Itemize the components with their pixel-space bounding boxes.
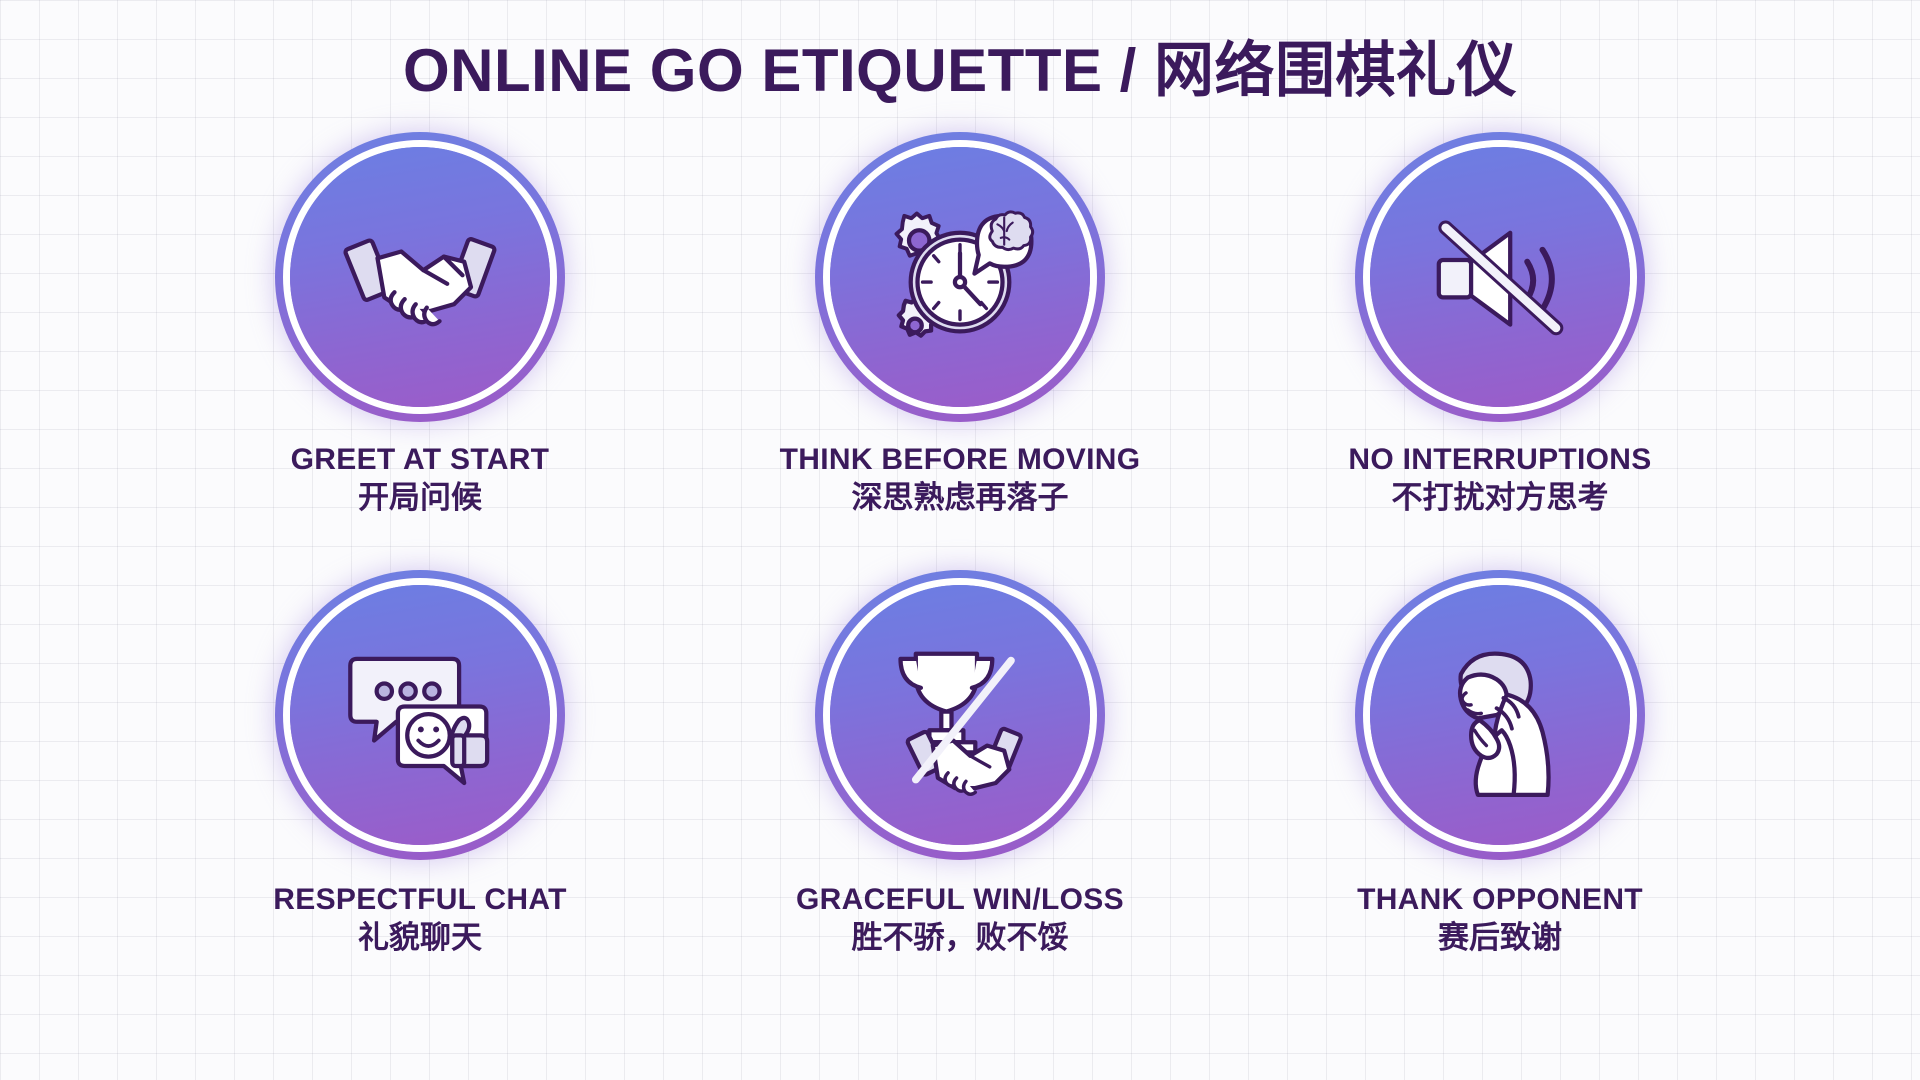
circle-inner (1370, 147, 1630, 407)
item-labels: GRACEFUL WIN/LOSS 胜不骄，败不馁 (796, 882, 1124, 957)
circle-inner (830, 147, 1090, 407)
trophy-handshake-icon (875, 630, 1045, 800)
etiquette-item-graceful-win-loss[interactable]: GRACEFUL WIN/LOSS 胜不骄，败不馁 (796, 570, 1124, 1008)
etiquette-item-no-interruptions[interactable]: NO INTERRUPTIONS 不打扰对方思考 (1348, 132, 1651, 570)
circle-inner (830, 585, 1090, 845)
handshake-icon (335, 192, 505, 362)
label-zh: 胜不骄，败不馁 (796, 919, 1124, 957)
item-labels: NO INTERRUPTIONS 不打扰对方思考 (1348, 442, 1651, 517)
label-en: GREET AT START (291, 442, 550, 477)
item-labels: RESPECTFUL CHAT 礼貌聊天 (273, 882, 566, 957)
circle-inner (290, 147, 550, 407)
label-en: THANK OPPONENT (1357, 882, 1643, 917)
item-labels: THANK OPPONENT 赛后致谢 (1357, 882, 1643, 957)
icon-circle (1355, 570, 1645, 860)
label-en: GRACEFUL WIN/LOSS (796, 882, 1124, 917)
icon-circle (815, 132, 1105, 422)
muted-speaker-icon (1415, 192, 1585, 362)
icon-circle (815, 570, 1105, 860)
icon-circle (1355, 132, 1645, 422)
chat-bubbles-thumbsup-icon (335, 630, 505, 800)
bowing-person-icon (1415, 630, 1585, 800)
clock-gears-brain-icon (875, 192, 1045, 362)
label-zh: 不打扰对方思考 (1348, 479, 1651, 517)
label-en: NO INTERRUPTIONS (1348, 442, 1651, 477)
label-zh: 礼貌聊天 (273, 919, 566, 957)
circle-inner (290, 585, 550, 845)
etiquette-grid: GREET AT START 开局问候 (150, 132, 1770, 1008)
label-en: RESPECTFUL CHAT (273, 882, 566, 917)
page-title: ONLINE GO ETIQUETTE / 网络围棋礼仪 (403, 38, 1517, 104)
icon-circle (275, 132, 565, 422)
etiquette-item-thank-opponent[interactable]: THANK OPPONENT 赛后致谢 (1355, 570, 1645, 1008)
etiquette-item-respectful-chat[interactable]: RESPECTFUL CHAT 礼貌聊天 (273, 570, 566, 1008)
icon-circle (275, 570, 565, 860)
item-labels: THINK BEFORE MOVING 深思熟虑再落子 (780, 442, 1141, 517)
infographic-page: ONLINE GO ETIQUETTE / 网络围棋礼仪 (0, 0, 1920, 1080)
label-zh: 深思熟虑再落子 (780, 479, 1141, 517)
label-en: THINK BEFORE MOVING (780, 442, 1141, 477)
etiquette-item-think-before-moving[interactable]: THINK BEFORE MOVING 深思熟虑再落子 (780, 132, 1141, 570)
item-labels: GREET AT START 开局问候 (291, 442, 550, 517)
circle-inner (1370, 585, 1630, 845)
label-zh: 开局问候 (291, 479, 550, 517)
label-zh: 赛后致谢 (1357, 919, 1643, 957)
etiquette-item-greet-at-start[interactable]: GREET AT START 开局问候 (275, 132, 565, 570)
